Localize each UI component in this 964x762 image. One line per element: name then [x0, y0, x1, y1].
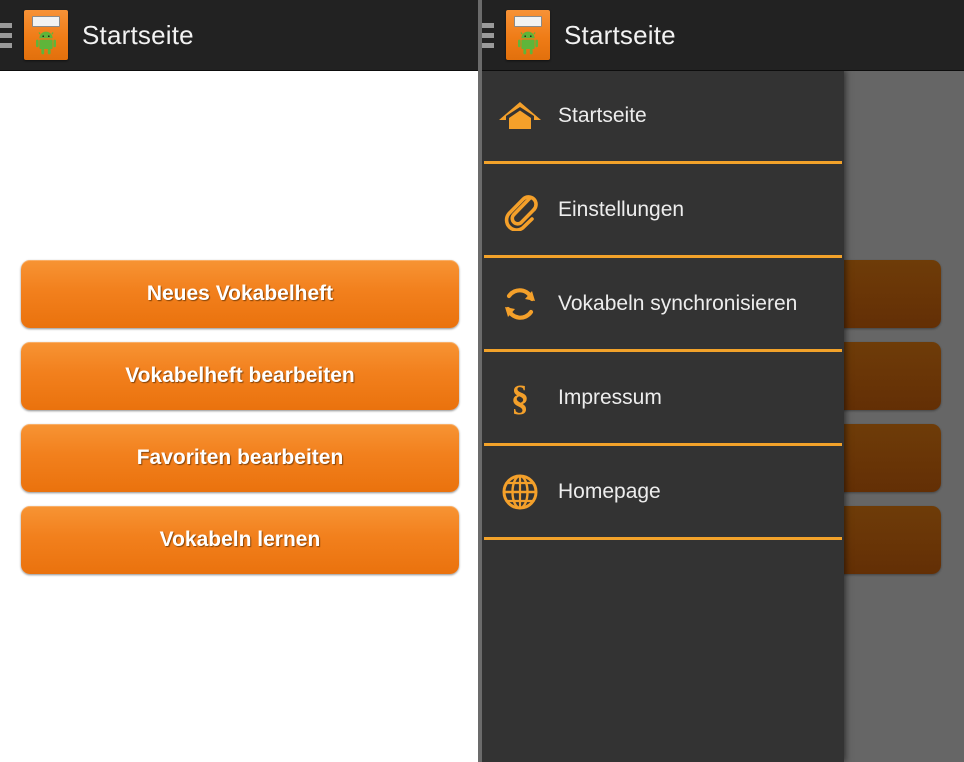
drawer-item-homepage[interactable]: Homepage	[482, 446, 844, 537]
right-panel: Startseite Einstellungen	[482, 0, 964, 762]
page-title: Startseite	[564, 20, 676, 51]
left-panel: Startseite Neues Vokabelheft Vokabelheft…	[0, 0, 478, 762]
left-action-bar: Startseite	[0, 0, 478, 70]
screenshot-root: Startseite Neues Vokabelheft Vokabelheft…	[0, 0, 964, 762]
drawer-item-label: Impressum	[558, 386, 662, 410]
right-action-bar: Startseite	[482, 0, 964, 70]
learn-vocabulary-button[interactable]: Vokabeln lernen	[21, 506, 459, 574]
app-icon-vocabulary-book[interactable]	[24, 10, 68, 60]
drawer-item-startseite[interactable]: Startseite	[482, 70, 844, 161]
drawer-item-impressum[interactable]: § Impressum	[482, 352, 844, 443]
drawer-item-label: Startseite	[558, 104, 647, 128]
paperclip-icon	[482, 189, 558, 231]
main-button-stack: Neues Vokabelheft Vokabelheft bearbeiten…	[21, 260, 459, 574]
android-robot-icon	[517, 31, 539, 55]
drawer-divider	[484, 537, 842, 540]
book-label-strip	[32, 16, 60, 27]
android-robot-icon	[35, 31, 57, 55]
sync-icon	[482, 285, 558, 323]
drawer-item-label: Vokabeln synchronisieren	[558, 292, 797, 316]
book-label-strip	[514, 16, 542, 27]
new-vocabulary-book-button[interactable]: Neues Vokabelheft	[21, 260, 459, 328]
hamburger-menu-icon[interactable]	[0, 0, 14, 70]
drawer-item-label: Einstellungen	[558, 198, 684, 222]
drawer-item-vokabeln-synchronisieren[interactable]: Vokabeln synchronisieren	[482, 258, 844, 349]
edit-vocabulary-book-button[interactable]: Vokabelheft bearbeiten	[21, 342, 459, 410]
hamburger-menu-icon[interactable]	[482, 0, 496, 70]
drawer-item-label: Homepage	[558, 480, 661, 504]
edit-favorites-button[interactable]: Favoriten bearbeiten	[21, 424, 459, 492]
section-sign-icon: §	[482, 380, 558, 416]
left-content-area: Neues Vokabelheft Vokabelheft bearbeiten…	[0, 70, 478, 762]
globe-icon	[482, 473, 558, 511]
navigation-drawer: Startseite Einstellungen	[482, 70, 844, 762]
drawer-item-einstellungen[interactable]: Einstellungen	[482, 164, 844, 255]
home-icon	[482, 99, 558, 133]
app-icon-vocabulary-book[interactable]	[506, 10, 550, 60]
page-title: Startseite	[82, 20, 194, 51]
panel-separator	[478, 0, 482, 762]
section-sign-glyph: §	[511, 380, 529, 416]
